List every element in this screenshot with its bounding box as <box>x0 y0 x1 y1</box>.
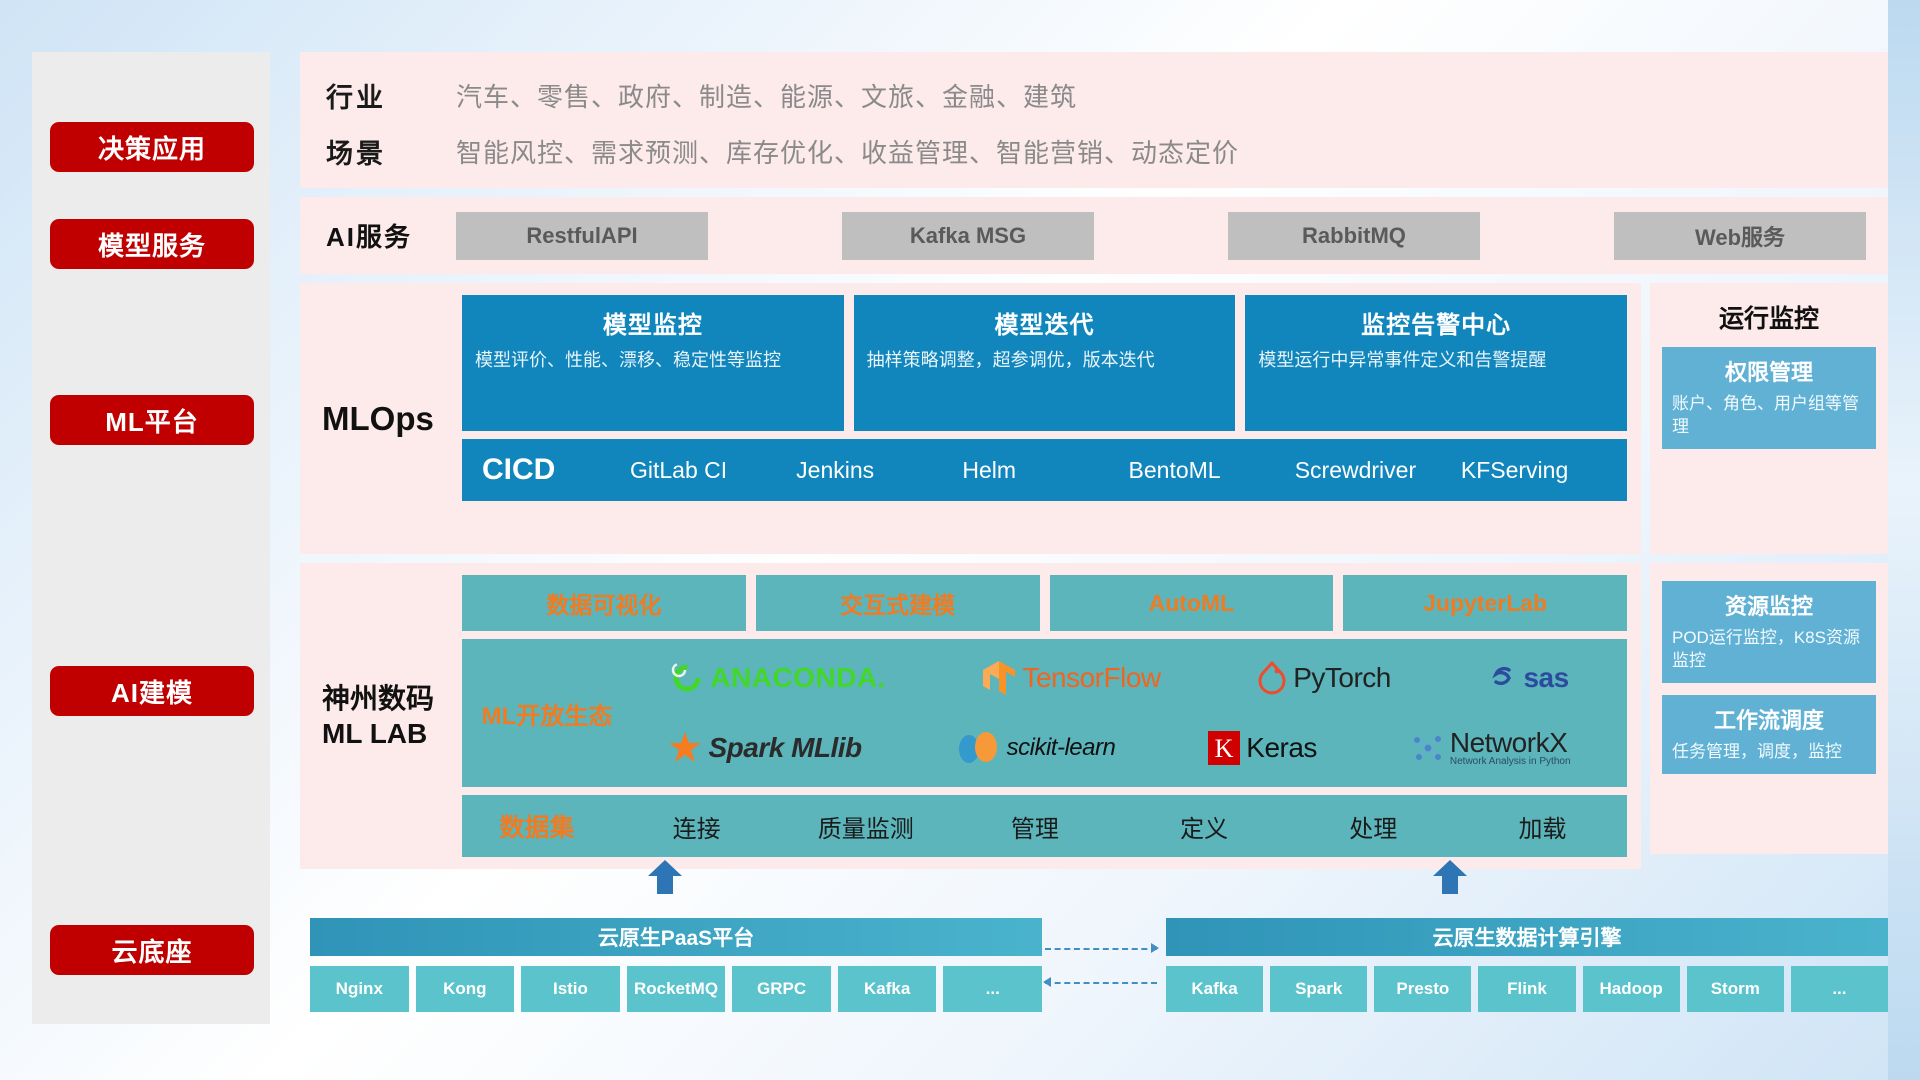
anaconda-icon <box>670 661 704 695</box>
cicd-item-helm[interactable]: Helm <box>962 456 1128 485</box>
service-chip-web[interactable]: Web服务 <box>1614 212 1866 260</box>
paas-chip-more[interactable]: ... <box>943 966 1042 1012</box>
scenario-label: 场景 <box>326 132 456 171</box>
card-desc: 模型运行中异常事件定义和告警提醒 <box>1258 348 1614 372</box>
spark-label: Spark MLlib <box>708 732 861 764</box>
card-desc: 账户、角色、用户组等管理 <box>1672 393 1866 439</box>
keras-logo: K Keras <box>1208 731 1317 765</box>
networkx-label: NetworkX <box>1450 729 1571 757</box>
paas-chip-rocketmq[interactable]: RocketMQ <box>627 966 726 1012</box>
rail-item-ai-modeling[interactable]: AI建模 <box>50 666 254 716</box>
cicd-item-bentoml[interactable]: BentoML <box>1129 456 1295 485</box>
anaconda-label: ANACONDA. <box>710 662 886 694</box>
paas-chip-list: Nginx Kong Istio RocketMQ GRPC Kafka ... <box>310 966 1042 1012</box>
industry-scenario-band: 行业 汽车、零售、政府、制造、能源、文旅、金融、建筑 场景 智能风控、需求预测、… <box>300 52 1888 188</box>
dataset-item-quality[interactable]: 质量监测 <box>781 809 950 844</box>
spark-mllib-logo: Spark MLlib <box>668 731 861 765</box>
networkx-subtitle: Network Analysis in Python <box>1450 757 1571 767</box>
card-title: 监控告警中心 <box>1258 305 1614 340</box>
card-desc: 任务管理，调度，监控 <box>1672 741 1866 764</box>
tensorflow-icon <box>982 659 1016 697</box>
ml-lab-band: 神州数码 ML LAB 数据可视化 交互式建模 AutoML JupyterLa… <box>300 563 1641 869</box>
rail-label: 决策应用 <box>98 129 206 166</box>
engine-chip-storm[interactable]: Storm <box>1687 966 1784 1012</box>
cicd-item-gitlab-ci[interactable]: GitLab CI <box>630 456 796 485</box>
ai-services-band: AI服务 RestfulAPI Kafka MSG RabbitMQ Web服务 <box>300 197 1888 274</box>
networkx-logo: NetworkX Network Analysis in Python <box>1410 729 1571 767</box>
scenario-value: 智能风控、需求预测、库存优化、收益管理、智能营销、动态定价 <box>456 133 1239 170</box>
tool-chip-automl[interactable]: AutoML <box>1050 575 1334 631</box>
paas-chip-kong[interactable]: Kong <box>416 966 515 1012</box>
networkx-icon <box>1410 732 1444 764</box>
dataset-item-connect[interactable]: 连接 <box>612 809 781 844</box>
dataset-item-process[interactable]: 处理 <box>1289 809 1458 844</box>
mlops-label: MLOps <box>322 295 462 542</box>
keras-icon: K <box>1208 731 1240 765</box>
pytorch-logo: PyTorch <box>1257 661 1391 695</box>
dataset-item-manage[interactable]: 管理 <box>950 809 1119 844</box>
engine-chip-presto[interactable]: Presto <box>1374 966 1471 1012</box>
tensorflow-label: TensorFlow <box>1022 662 1160 694</box>
pytorch-label: PyTorch <box>1293 662 1391 694</box>
monitor-card-resource[interactable]: 资源监控 POD运行监控，K8S资源监控 <box>1662 581 1876 683</box>
dataset-item-define[interactable]: 定义 <box>1120 809 1289 844</box>
right-edge-decoration <box>1888 0 1920 1080</box>
engine-chip-spark[interactable]: Spark <box>1270 966 1367 1012</box>
monitor-card-workflow[interactable]: 工作流调度 任务管理，调度，监控 <box>1662 695 1876 774</box>
card-title: 模型迭代 <box>867 305 1223 340</box>
engine-chip-more[interactable]: ... <box>1791 966 1888 1012</box>
runtime-monitor-title: 运行监控 <box>1662 299 1876 335</box>
runtime-monitor-panel: 运行监控 权限管理 账户、角色、用户组等管理 <box>1650 283 1888 554</box>
mlops-row: MLOps 模型监控 模型评价、性能、漂移、稳定性等监控 模型迭代 抽样策略调整… <box>300 283 1888 554</box>
data-engine-chip-list: Kafka Spark Presto Flink Hadoop Storm ..… <box>1166 966 1888 1012</box>
service-chip-kafka-msg[interactable]: Kafka MSG <box>842 212 1094 260</box>
industry-value: 汽车、零售、政府、制造、能源、文旅、金融、建筑 <box>456 77 1077 114</box>
ml-lab-label-line2: ML LAB <box>322 716 462 751</box>
paas-chip-kafka[interactable]: Kafka <box>838 966 937 1012</box>
bidirectional-link <box>1045 940 1163 996</box>
dataset-title: 数据集 <box>462 808 612 844</box>
cicd-bar: CICD GitLab CI Jenkins Helm BentoML Scre… <box>462 439 1627 501</box>
card-title: 权限管理 <box>1672 355 1866 387</box>
sas-label: sas <box>1523 662 1568 694</box>
rail-label: 模型服务 <box>98 226 206 263</box>
service-chip-restfulapi[interactable]: RestfulAPI <box>456 212 708 260</box>
card-desc: 抽样策略调整，超参调优，版本迭代 <box>867 348 1223 372</box>
scikit-learn-label: scikit-learn <box>1007 734 1116 762</box>
card-desc: 模型评价、性能、漂移、稳定性等监控 <box>475 348 831 372</box>
runtime-monitor-panel-lower: 资源监控 POD运行监控，K8S资源监控 工作流调度 任务管理，调度，监控 <box>1650 563 1888 854</box>
dataset-bar: 数据集 连接 质量监测 管理 定义 处理 加载 <box>462 795 1627 857</box>
scikit-learn-logo: scikit-learn <box>955 730 1116 766</box>
tool-chip-interactive-modeling[interactable]: 交互式建模 <box>756 575 1040 631</box>
rail-item-decision[interactable]: 决策应用 <box>50 122 254 172</box>
data-engine-header: 云原生数据计算引擎 <box>1166 918 1888 956</box>
rail-item-model-service[interactable]: 模型服务 <box>50 219 254 269</box>
card-title: 模型监控 <box>475 305 831 340</box>
ml-lab-tool-list: 数据可视化 交互式建模 AutoML JupyterLab <box>462 575 1627 631</box>
monitor-card-permission[interactable]: 权限管理 账户、角色、用户组等管理 <box>1662 347 1876 449</box>
ai-modeling-row: 神州数码 ML LAB 数据可视化 交互式建模 AutoML JupyterLa… <box>300 563 1888 869</box>
ml-lab-label-line1: 神州数码 <box>322 681 462 716</box>
paas-chip-istio[interactable]: Istio <box>521 966 620 1012</box>
scikit-learn-icon <box>955 730 1001 766</box>
ml-ecosystem-logo-grid: ANACONDA. TensorFlow <box>622 645 1617 781</box>
service-chip-rabbitmq[interactable]: RabbitMQ <box>1228 212 1480 260</box>
mlops-band: MLOps 模型监控 模型评价、性能、漂移、稳定性等监控 模型迭代 抽样策略调整… <box>300 283 1641 554</box>
tool-chip-jupyterlab[interactable]: JupyterLab <box>1343 575 1627 631</box>
rail-item-cloud-base[interactable]: 云底座 <box>50 925 254 975</box>
cloud-foundation-section: 云原生PaaS平台 Nginx Kong Istio RocketMQ GRPC… <box>300 888 1888 1024</box>
mlops-card-model-monitoring[interactable]: 模型监控 模型评价、性能、漂移、稳定性等监控 <box>462 295 844 431</box>
ai-services-chip-list: RestfulAPI Kafka MSG RabbitMQ Web服务 <box>456 212 1866 260</box>
logo-row-bottom: Spark MLlib scikit-learn <box>622 715 1617 781</box>
mlops-card-list: 模型监控 模型评价、性能、漂移、稳定性等监控 模型迭代 抽样策略调整，超参调优，… <box>462 295 1627 431</box>
spark-icon <box>668 731 702 765</box>
mlops-content: 模型监控 模型评价、性能、漂移、稳定性等监控 模型迭代 抽样策略调整，超参调优，… <box>462 295 1627 542</box>
cicd-item-jenkins[interactable]: Jenkins <box>796 456 962 485</box>
rail-label: AI建模 <box>111 673 193 710</box>
logo-row-top: ANACONDA. TensorFlow <box>622 645 1617 711</box>
keras-label: Keras <box>1246 732 1317 764</box>
engine-chip-kafka[interactable]: Kafka <box>1166 966 1263 1012</box>
paas-platform-group: 云原生PaaS平台 Nginx Kong Istio RocketMQ GRPC… <box>310 918 1042 1012</box>
cicd-item-kfserving[interactable]: KFServing <box>1461 456 1627 485</box>
paas-chip-nginx[interactable]: Nginx <box>310 966 409 1012</box>
card-desc: POD运行监控，K8S资源监控 <box>1672 627 1866 673</box>
ml-ecosystem-label: ML开放生态 <box>472 696 622 731</box>
sas-logo: sas <box>1487 662 1568 694</box>
data-engine-group: 云原生数据计算引擎 Kafka Spark Presto Flink Hadoo… <box>1166 918 1888 1012</box>
paas-chip-grpc[interactable]: GRPC <box>732 966 831 1012</box>
industry-label: 行业 <box>326 76 456 115</box>
rail-item-ml-platform[interactable]: ML平台 <box>50 395 254 445</box>
rail-label: ML平台 <box>105 402 199 439</box>
cicd-title: CICD <box>482 453 630 487</box>
card-title: 工作流调度 <box>1672 703 1866 735</box>
cicd-item-screwdriver[interactable]: Screwdriver <box>1295 456 1461 485</box>
card-title: 资源监控 <box>1672 589 1866 621</box>
engine-chip-hadoop[interactable]: Hadoop <box>1583 966 1680 1012</box>
scenario-row: 场景 智能风控、需求预测、库存优化、收益管理、智能营销、动态定价 <box>326 126 1866 176</box>
ml-lab-label: 神州数码 ML LAB <box>322 575 462 857</box>
engine-chip-flink[interactable]: Flink <box>1478 966 1575 1012</box>
ml-lab-content: 数据可视化 交互式建模 AutoML JupyterLab ML开放生态 <box>462 575 1627 857</box>
layer-rail: 决策应用 模型服务 ML平台 AI建模 云底座 <box>32 52 270 1024</box>
svg-text:K: K <box>1215 734 1234 763</box>
architecture-main: 行业 汽车、零售、政府、制造、能源、文旅、金融、建筑 场景 智能风控、需求预测、… <box>300 52 1888 869</box>
anaconda-logo: ANACONDA. <box>670 661 886 695</box>
rail-label: 云底座 <box>111 932 192 969</box>
ai-services-label: AI服务 <box>326 217 456 254</box>
dataset-item-load[interactable]: 加载 <box>1458 809 1627 844</box>
sas-icon <box>1487 663 1517 693</box>
tensorflow-logo: TensorFlow <box>982 659 1160 697</box>
industry-row: 行业 汽车、零售、政府、制造、能源、文旅、金融、建筑 <box>326 70 1866 120</box>
tool-chip-data-visualization[interactable]: 数据可视化 <box>462 575 746 631</box>
pytorch-icon <box>1257 661 1287 695</box>
ml-ecosystem-box: ML开放生态 ANACONDA. <box>462 639 1627 787</box>
mlops-card-model-iteration[interactable]: 模型迭代 抽样策略调整，超参调优，版本迭代 <box>854 295 1236 431</box>
paas-platform-header: 云原生PaaS平台 <box>310 918 1042 956</box>
mlops-card-alert-center[interactable]: 监控告警中心 模型运行中异常事件定义和告警提醒 <box>1245 295 1627 431</box>
